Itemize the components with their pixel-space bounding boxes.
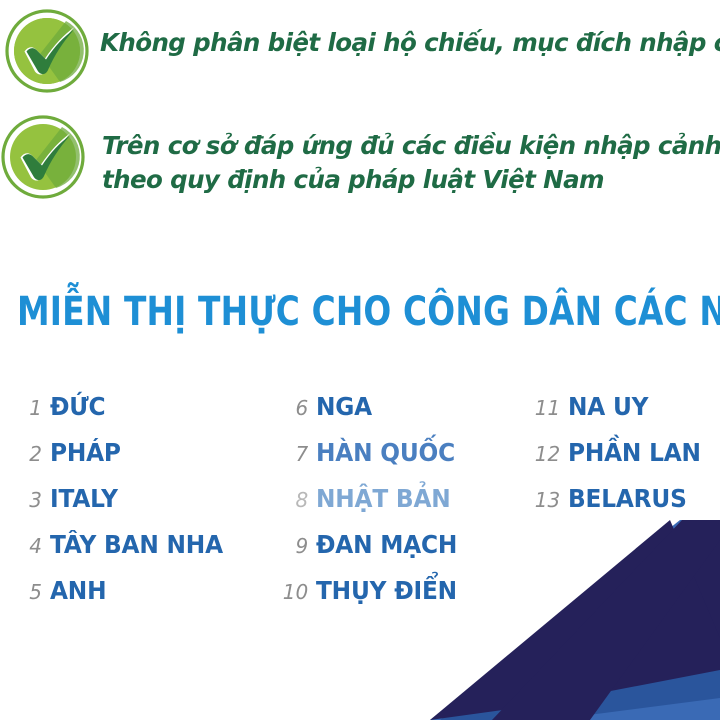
country-index: 11 bbox=[534, 396, 560, 420]
country-index: 6 bbox=[282, 396, 308, 420]
country-name: ĐAN MẠCH bbox=[316, 530, 457, 559]
country-index: 4 bbox=[24, 534, 42, 558]
country-index: 3 bbox=[24, 488, 42, 512]
list-item[interactable]: 10 THỤY ĐIỂN bbox=[282, 576, 519, 622]
list-item[interactable]: 7 HÀN QUỐC bbox=[282, 438, 519, 484]
list-item[interactable]: 1 ĐỨC bbox=[24, 392, 270, 438]
list-item[interactable]: 5 ANH bbox=[24, 576, 270, 622]
list-item[interactable]: 6 NGA bbox=[282, 392, 519, 438]
bullet-2-line-1: Trên cơ sở đáp ứng đủ các điều kiện nhập… bbox=[102, 129, 720, 163]
decoration-shape-light-lower bbox=[550, 698, 720, 720]
country-index: 9 bbox=[282, 534, 308, 558]
page-title: MIỄN THỊ THỰC CHO CÔNG DÂN CÁC NƯỚC bbox=[17, 292, 720, 332]
country-column-3: 11 NA UY 12 PHẦN LAN 13 BELARUS bbox=[519, 392, 720, 622]
country-name: BELARUS bbox=[568, 484, 687, 513]
country-index: 8 bbox=[282, 488, 308, 512]
bullet-item-2: Trên cơ sở đáp ứng đủ các điều kiện nhập… bbox=[0, 114, 720, 200]
list-item[interactable]: 4 TÂY BAN NHA bbox=[24, 530, 270, 576]
country-name: TÂY BAN NHA bbox=[50, 530, 223, 559]
country-name: PHÁP bbox=[50, 438, 121, 467]
country-name: NHẬT BẢN bbox=[316, 484, 451, 513]
list-item[interactable]: 2 PHÁP bbox=[24, 438, 270, 484]
list-item[interactable]: 8 NHẬT BẢN bbox=[282, 484, 519, 530]
country-index: 12 bbox=[534, 442, 560, 466]
bullet-text-1: Không phân biệt loại hộ chiếu, mục đích … bbox=[100, 26, 720, 60]
bullet-item-1: Không phân biệt loại hộ chiếu, mục đích … bbox=[4, 8, 720, 94]
country-name: ĐỨC bbox=[50, 392, 105, 421]
country-name: PHẦN LAN bbox=[568, 438, 701, 467]
infographic-canvas: Không phân biệt loại hộ chiếu, mục đích … bbox=[0, 0, 720, 720]
bullet-2-line-2: theo quy định của pháp luật Việt Nam bbox=[102, 163, 720, 197]
country-name: NGA bbox=[316, 392, 372, 421]
decoration-shape-blue-lower bbox=[460, 670, 720, 720]
country-index: 7 bbox=[282, 442, 308, 466]
country-name: ANH bbox=[50, 576, 106, 605]
bullet-text-2: Trên cơ sở đáp ứng đủ các điều kiện nhập… bbox=[102, 129, 720, 197]
list-item[interactable]: 9 ĐAN MẠCH bbox=[282, 530, 519, 576]
list-item[interactable]: 11 NA UY bbox=[534, 392, 720, 438]
country-name: ITALY bbox=[50, 484, 118, 513]
country-column-1: 1 ĐỨC 2 PHÁP 3 ITALY 4 TÂY BAN NHA 5 ANH bbox=[0, 392, 270, 622]
country-index: 5 bbox=[24, 580, 42, 604]
country-list: 1 ĐỨC 2 PHÁP 3 ITALY 4 TÂY BAN NHA 5 ANH bbox=[0, 392, 720, 622]
country-name: NA UY bbox=[568, 392, 648, 421]
green-check-circle-icon bbox=[0, 114, 86, 200]
list-item[interactable]: 13 BELARUS bbox=[534, 484, 720, 530]
country-index: 13 bbox=[534, 488, 560, 512]
country-index: 2 bbox=[24, 442, 42, 466]
country-name: HÀN QUỐC bbox=[316, 438, 455, 467]
country-column-2: 6 NGA 7 HÀN QUỐC 8 NHẬT BẢN 9 ĐAN MẠCH 1… bbox=[270, 392, 519, 622]
country-index: 10 bbox=[282, 580, 308, 604]
country-name: THỤY ĐIỂN bbox=[316, 576, 457, 605]
bullet-1-line-1: Không phân biệt loại hộ chiếu, mục đích … bbox=[100, 26, 720, 60]
list-item[interactable]: 3 ITALY bbox=[24, 484, 270, 530]
country-index: 1 bbox=[24, 396, 42, 420]
list-item[interactable]: 12 PHẦN LAN bbox=[534, 438, 720, 484]
green-check-circle-icon bbox=[4, 8, 90, 94]
